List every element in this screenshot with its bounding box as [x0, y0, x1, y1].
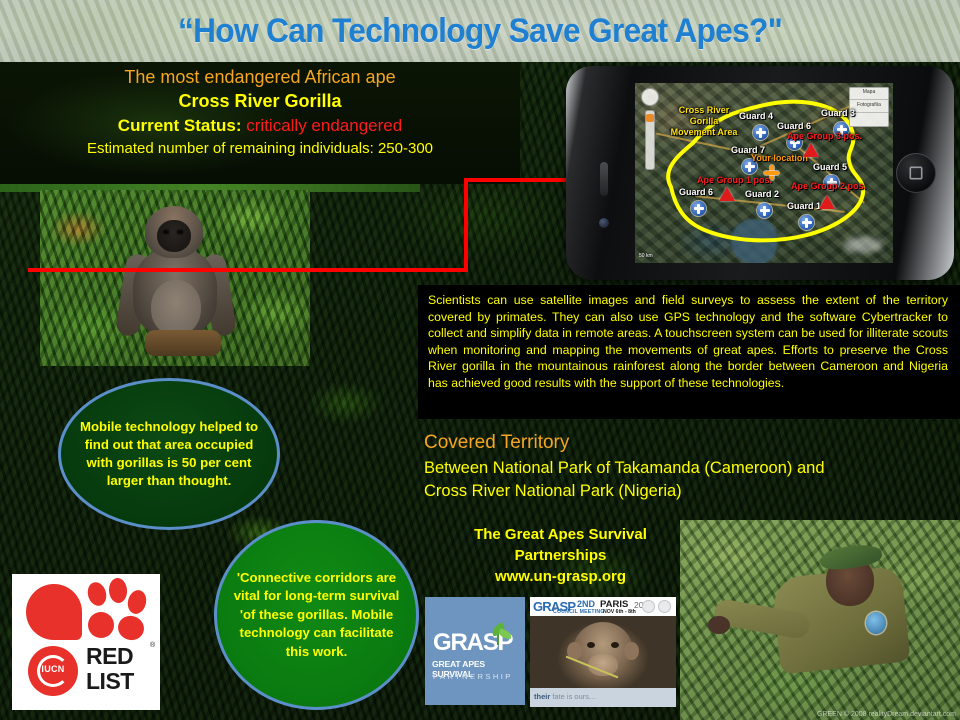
status-value: critically endangered: [246, 116, 402, 135]
home-square-icon: [910, 167, 923, 180]
red-list-wordmark: RED LIST: [86, 644, 134, 694]
tagline-rest: fate is ours...: [552, 692, 595, 701]
map-label-ape-group-3: Ape Group 3 pos.: [787, 131, 862, 141]
poster-footer-bar: their fate is ours...: [530, 688, 676, 707]
callout-blue-text: Mobile technology helped to find out tha…: [61, 418, 277, 490]
poster-seal-icon: [642, 600, 655, 613]
poster-ordinal: 2ND: [577, 599, 595, 609]
red-connector-bottom: [28, 268, 468, 272]
map-zoom-slider[interactable]: [645, 110, 655, 170]
paw-toe-icon: [88, 612, 114, 638]
map-label-guard-6a: Guard 6: [777, 121, 811, 131]
red-connector-riser: [464, 178, 468, 272]
gorilla-log: [145, 330, 221, 356]
marker-guard-1[interactable]: [799, 215, 814, 230]
poster-tagline: their fate is ours...: [534, 692, 595, 701]
covered-territory-line-1: Between National Park of Takamanda (Came…: [424, 457, 954, 480]
gorilla-eye-right: [177, 230, 183, 234]
marker-ape-group-3[interactable]: [803, 143, 819, 157]
grasp-website[interactable]: www.un-grasp.org: [418, 566, 703, 587]
tagline-bold: their: [534, 692, 552, 701]
gorilla-face: [157, 220, 191, 252]
grasp-line-1: The Great Apes Survival: [418, 524, 703, 545]
gorilla-figure: [115, 206, 235, 356]
scientists-text-panel: Scientists can use satellite images and …: [418, 285, 960, 419]
list-word: LIST: [86, 669, 134, 694]
marker-guard-4[interactable]: [753, 125, 768, 140]
area-label-l3: Movement Area: [661, 127, 747, 138]
photo-watermark: GREEN © 2008 realityDream.deviantart.com: [817, 711, 956, 718]
your-location-label: Your location: [751, 153, 808, 163]
movement-area-label: Cross River Gorilla Movement Area: [661, 105, 747, 138]
callout-green-text: 'Connective corridors are vital for long…: [217, 569, 416, 662]
gorilla-photo: [40, 190, 310, 366]
park-ranger-photo: GREEN © 2008 realityDream.deviantart.com: [680, 520, 960, 720]
map-label-ape-group-1: Ape Group 1 pos.: [697, 175, 772, 185]
marker-ape-group-1[interactable]: [719, 187, 735, 201]
map-label-ape-group-2: Ape Group 2 pos.: [791, 181, 866, 191]
poster-header-bar: GRASP 2ND PARIS 2012 COUNCIL MEETING NOV…: [530, 597, 676, 616]
smartphone-mockup: Mapa Fotografiía 50 km Cross River Goril…: [566, 66, 954, 280]
species-status-panel: The most endangered African ape Cross Ri…: [0, 62, 520, 184]
map-label-guard-2: Guard 2: [745, 189, 779, 199]
zoom-knob[interactable]: [646, 114, 654, 122]
area-label-l1: Cross River: [661, 105, 747, 116]
phone-camera-icon: [599, 218, 609, 228]
area-label-l2: Gorilla: [661, 116, 747, 127]
poster-dates: NOV 6th - 8th: [603, 609, 636, 615]
chimp-eye-left: [587, 642, 595, 648]
header-banner: “How Can Technology Save Great Apes?": [0, 0, 960, 62]
ranger-hand: [708, 616, 730, 634]
phone-home-button[interactable]: [896, 153, 936, 193]
callout-connective-corridors: 'Connective corridors are vital for long…: [214, 520, 419, 710]
poster-seal-icon: [658, 600, 671, 613]
map-label-guard-4: Guard 4: [739, 111, 773, 121]
map-label-guard-1: Guard 1: [787, 201, 821, 211]
paw-toe-icon: [125, 588, 148, 616]
covered-territory-line-2: Cross River National Park (Nigeria): [424, 480, 954, 503]
map-compass-icon[interactable]: [641, 88, 659, 106]
marker-guard-2[interactable]: [757, 203, 772, 218]
gorilla-eye-left: [163, 230, 169, 234]
chimpanzee-photo: [530, 616, 676, 688]
map-label-guard-5: Guard 5: [813, 162, 847, 172]
status-estimate: Estimated number of remaining individual…: [0, 136, 520, 157]
gorilla-belly: [151, 280, 201, 336]
page-title: “How Can Technology Save Great Apes?": [34, 0, 927, 62]
covered-territory-heading: Covered Territory: [424, 432, 954, 457]
poster-meeting-label: COUNCIL MEETING: [553, 609, 605, 615]
map-label-guard-6b: Guard 6: [679, 187, 713, 197]
status-current: Current Status: critically endangered: [0, 112, 520, 136]
map-label-guard-3: Guard 3: [821, 108, 855, 118]
status-species-name: Cross River Gorilla: [0, 88, 520, 112]
infographic-poster: “How Can Technology Save Great Apes?" Th…: [0, 0, 960, 720]
red-word: RED: [86, 644, 134, 669]
chimp-eye-right: [611, 642, 619, 648]
registered-mark: ®: [150, 642, 155, 649]
iucn-circle-icon: IUCN: [28, 646, 78, 696]
iucn-label: IUCN: [28, 664, 78, 674]
covered-territory-section: Covered Territory Between National Park …: [424, 432, 954, 503]
gorilla-movement-map[interactable]: Mapa Fotografiía 50 km Cross River Goril…: [635, 83, 893, 263]
paw-pad-icon: [26, 584, 82, 640]
status-label: Current Status:: [118, 116, 242, 135]
marker-guard-6b[interactable]: [691, 201, 706, 216]
status-line-endangered: The most endangered African ape: [0, 62, 520, 88]
grasp-logo: GRASP GREAT APES SURVIVAL PARTNERSHIP: [425, 597, 525, 705]
grasp-text-block: The Great Apes Survival Partnerships www…: [418, 524, 703, 587]
scientists-paragraph: Scientists can use satellite images and …: [428, 292, 948, 392]
callout-mobile-technology: Mobile technology helped to find out tha…: [58, 378, 280, 530]
paw-toe-icon: [108, 577, 128, 603]
grasp-paris-poster: GRASP 2ND PARIS 2012 COUNCIL MEETING NOV…: [530, 597, 676, 707]
ranger-shoulder-patch: [866, 612, 886, 634]
iucn-red-list-logo: IUCN RED LIST ®: [12, 574, 160, 710]
map-type-standard[interactable]: Mapa: [849, 87, 889, 100]
chimp-ear-right: [624, 642, 639, 660]
phone-speaker: [600, 162, 608, 196]
marker-ape-group-2[interactable]: [819, 195, 835, 209]
grasp-line-2: Partnerships: [418, 545, 703, 566]
paw-toe-icon: [85, 580, 109, 608]
map-type-switcher[interactable]: Mapa Fotografiía: [849, 87, 889, 127]
paw-toe-icon: [115, 613, 147, 643]
map-scale-bar: 50 km: [639, 253, 653, 259]
grasp-subtitle-2: PARTNERSHIP: [433, 672, 513, 681]
